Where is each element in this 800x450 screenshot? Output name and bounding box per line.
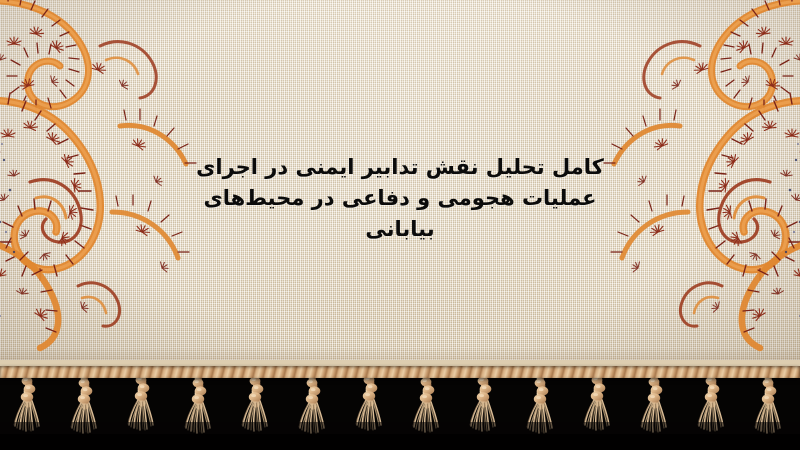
slide-title: کامل تحلیل نقش تدابیر ایمنی در اجرای عمل…: [0, 152, 800, 245]
title-line-2: عملیات هجومی و دفاعی در محیط‌های: [0, 183, 800, 214]
title-line-1: کامل تحلیل نقش تدابیر ایمنی در اجرای: [0, 152, 800, 183]
slide-canvas: کامل تحلیل نقش تدابیر ایمنی در اجرای عمل…: [0, 0, 800, 450]
title-line-3: بیابانی: [0, 214, 800, 245]
